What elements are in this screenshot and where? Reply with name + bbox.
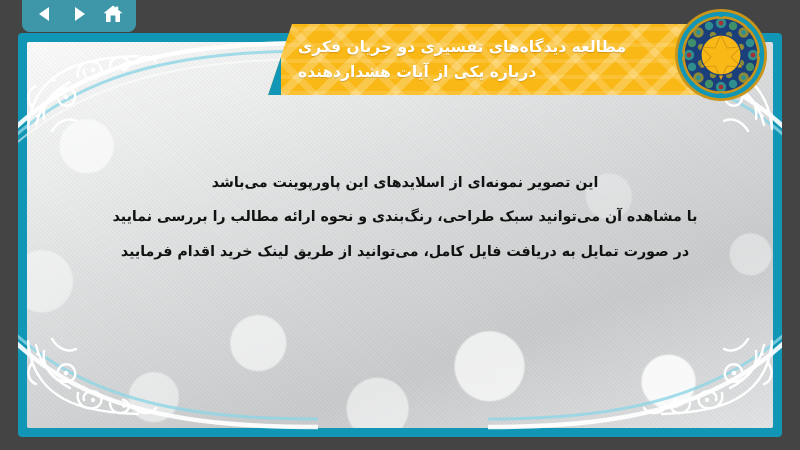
body-line-1: این تصویر نمونه‌ای از اسلایدهای این پاور… (58, 166, 752, 200)
left-triangle-icon (36, 5, 54, 23)
navigation-bar (22, 0, 136, 32)
title-line-1: مطالعه دیدگاه‌های تفسیری دو جریان فکری (298, 36, 626, 58)
body-line-2: با مشاهده آن می‌توانید سبک طراحی، رنگ‌بن… (58, 200, 752, 234)
home-icon (102, 4, 124, 24)
right-triangle-icon (70, 5, 88, 23)
islamic-medallion-ornament (673, 7, 769, 103)
previous-button[interactable] (31, 1, 59, 27)
slide-body-text: این تصویر نمونه‌ای از اسلایدهای این پاور… (58, 166, 752, 269)
home-button[interactable] (99, 1, 127, 27)
slide-title: مطالعه دیدگاه‌های تفسیری دو جریان فکری د… (298, 24, 712, 95)
next-button[interactable] (65, 1, 93, 27)
app-window: این تصویر نمونه‌ای از اسلایدهای این پاور… (0, 0, 800, 450)
title-line-2: درباره یکی از آیات هشداردهنده (298, 61, 536, 83)
body-line-3: در صورت تمایل به دریافت فایل کامل، می‌تو… (58, 235, 752, 269)
slide-title-banner: مطالعه دیدگاه‌های تفسیری دو جریان فکری د… (268, 24, 728, 95)
